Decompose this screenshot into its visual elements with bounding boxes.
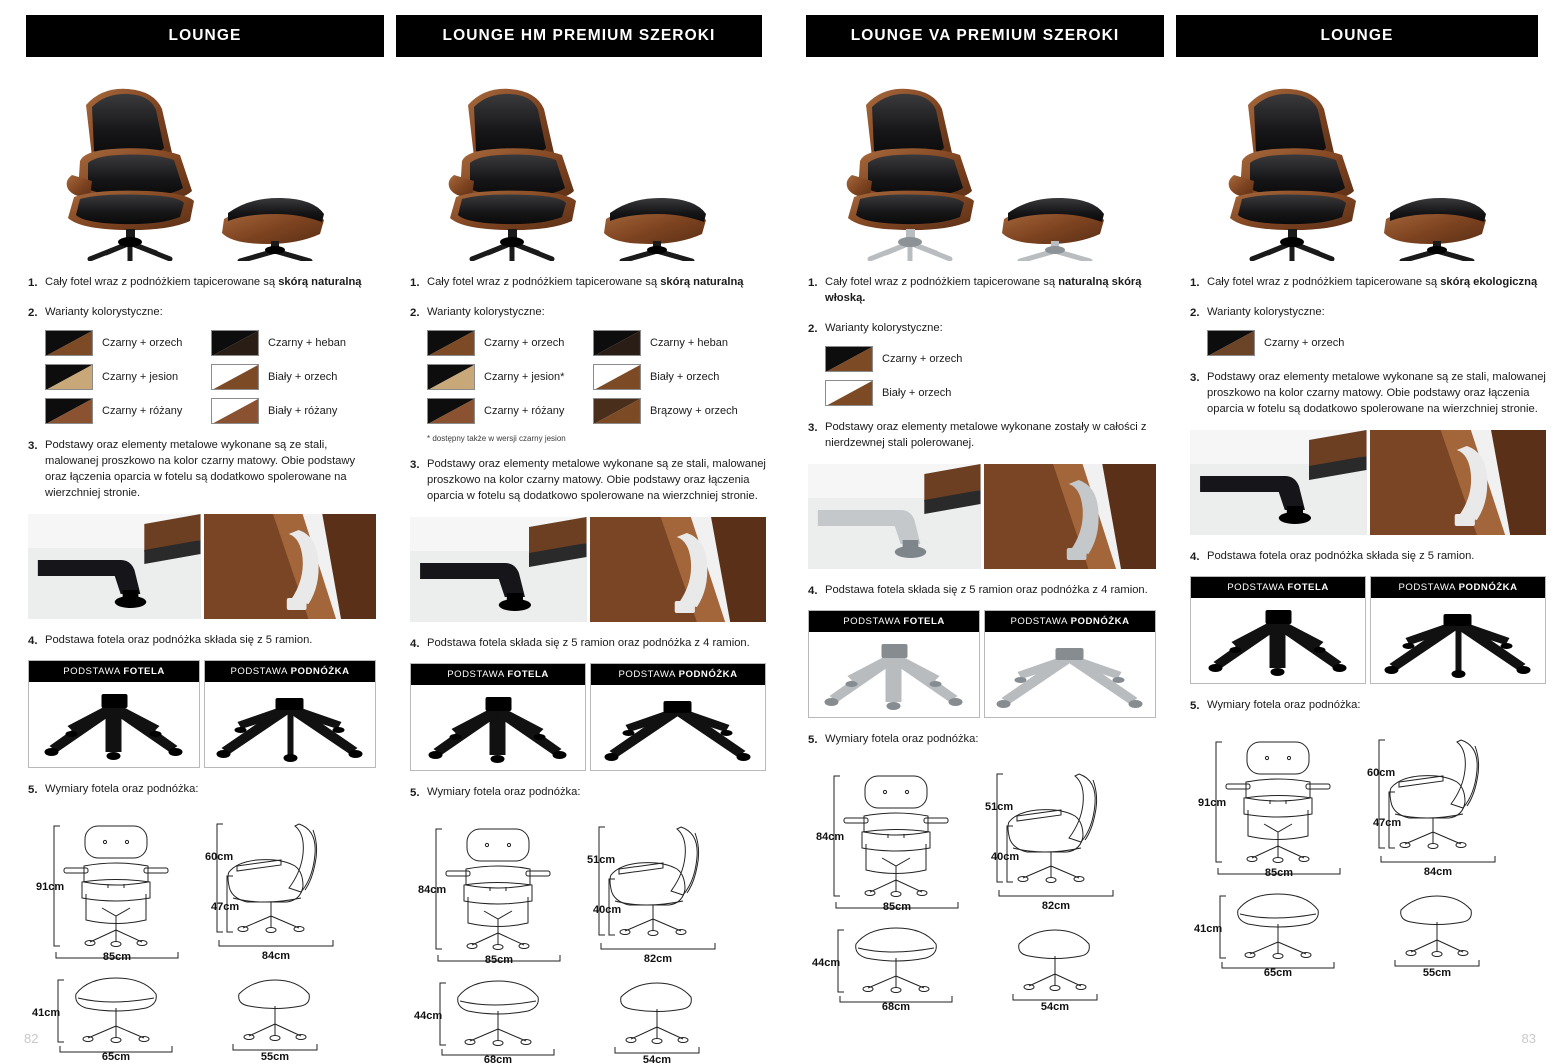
color-variant[interactable]: Czarny + jesion	[45, 364, 211, 390]
color-variant[interactable]: Biały + różany	[211, 398, 371, 424]
color-variants: Czarny + orzech Czarny + jesion* Czarny …	[427, 330, 766, 424]
spec-item-number: 5.	[808, 732, 825, 748]
chair-side-height-label: 60cm	[205, 851, 233, 863]
color-swatch-chip	[427, 330, 475, 356]
color-swatch-chip	[1207, 330, 1255, 356]
spec-item-1: 1. Cały fotel wraz z podnóżkiem tapicero…	[410, 275, 766, 291]
chair-side-view: 60cm 47cm 84cm	[1365, 726, 1525, 876]
spec-item-number: 3.	[808, 420, 825, 452]
spec-item-2: 2. Warianty kolorystyczne:	[1190, 305, 1546, 321]
spec-item-number: 4.	[410, 636, 427, 652]
ottoman-height-label: 44cm	[414, 1010, 442, 1022]
color-swatch-chip	[427, 398, 475, 424]
chair-front-dimension-svg: 84cm 85cm	[410, 813, 585, 963]
color-variant[interactable]: Czarny + heban	[211, 330, 371, 356]
chair-front-dimension-svg: 91cm 85cm	[1190, 726, 1365, 876]
product-hero-image	[28, 71, 376, 261]
spec-item-5: 5. Wymiary fotela oraz podnóżka:	[28, 782, 376, 798]
color-swatch-chip	[825, 380, 873, 406]
spec-item-number: 4.	[808, 583, 825, 599]
spec-item-number: 1.	[1190, 275, 1207, 291]
chair-seat-height-label: 47cm	[211, 901, 239, 913]
product-column-lounge-hm: LOUNGE HM PREMIUM SZEROKI	[390, 0, 780, 1064]
ottoman-base-header: PODSTAWA PODNÓŻKA	[985, 611, 1155, 632]
chair-base-image	[411, 685, 585, 770]
spec-item-number: 5.	[410, 785, 427, 801]
ottoman-base-svg	[591, 685, 765, 770]
detail-photo-right	[1370, 430, 1547, 535]
detail-photo-strip	[1190, 430, 1546, 535]
color-variant[interactable]: Czarny + orzech	[427, 330, 593, 356]
spec-item-number: 4.	[1190, 549, 1207, 565]
ottoman-front-view: 44cm 68cm	[808, 910, 983, 1010]
spec-item-number: 1.	[808, 275, 825, 307]
spec-item-text: Wymiary fotela oraz podnóżka:	[45, 782, 376, 798]
spec-item-number: 5.	[28, 782, 45, 798]
color-variant-label: Brązowy + orzech	[650, 405, 738, 417]
spec-item-number: 2.	[28, 305, 45, 321]
base-comparison: PODSTAWA FOTELA PODSTAWA PODNÓŻKA	[410, 663, 766, 771]
spec-item-4: 4. Podstawa fotela składa się z 5 ramion…	[410, 636, 766, 652]
dimension-drawings: 91cm 85cm 60cm 47cm 84cm	[1190, 726, 1546, 976]
product-hero-image	[410, 71, 766, 261]
detail-photo-right	[590, 517, 767, 622]
color-variant-label: Czarny + różany	[484, 405, 564, 417]
dimension-drawings: 84cm 85cm 51cm 40cm 82cm	[808, 760, 1156, 1010]
product-hero-image	[808, 71, 1156, 261]
chair-front-view: 91cm 85cm	[1190, 726, 1365, 876]
ottoman-side-view: 54cm	[585, 963, 745, 1063]
color-variant[interactable]: Biały + orzech	[825, 380, 991, 406]
spec-item-number: 3.	[410, 457, 427, 505]
ottoman-width-label: 68cm	[882, 1001, 910, 1010]
ottoman-base-header: PODSTAWA PODNÓŻKA	[205, 661, 375, 682]
color-swatch-chip	[593, 398, 641, 424]
ottoman-dimension-row: 44cm 68cm 54cm	[808, 910, 1156, 1010]
ottoman-side-width-label: 55cm	[261, 1051, 289, 1060]
detail-photo-left	[1190, 430, 1367, 535]
color-variants: Czarny + orzech	[1207, 330, 1546, 356]
ottoman-front-view: 41cm 65cm	[1190, 876, 1365, 976]
spec-item-number: 4.	[28, 633, 45, 649]
chair-base-image	[809, 632, 979, 717]
spec-item-text: Podstawa fotela składa się z 5 ramion or…	[825, 583, 1156, 599]
ottoman-dimension-row: 41cm 65cm 55cm	[28, 960, 376, 1060]
spec-item-3: 3. Podstawy oraz elementy metalowe wykon…	[808, 420, 1156, 452]
ottoman-front-view: 44cm 68cm	[410, 963, 585, 1063]
detail-photo-svg	[1370, 430, 1547, 535]
chair-dimension-row: 91cm 85cm 60cm 47cm 84cm	[1190, 726, 1546, 876]
chair-base-header: PODSTAWA FOTELA	[29, 661, 199, 682]
color-variant-label: Czarny + orzech	[1264, 337, 1344, 349]
color-variant[interactable]: Czarny + jesion*	[427, 364, 593, 390]
spec-item-text: Cały fotel wraz z podnóżkiem tapicerowan…	[427, 275, 766, 291]
color-swatch-chip	[211, 330, 259, 356]
color-variant[interactable]: Biały + orzech	[593, 364, 753, 390]
spec-item-2: 2. Warianty kolorystyczne:	[808, 321, 1156, 337]
chair-width-label: 85cm	[103, 951, 131, 960]
chair-base-header: PODSTAWA FOTELA	[1191, 577, 1365, 598]
chair-dimension-row: 84cm 85cm 51cm 40cm 82cm	[808, 760, 1156, 910]
chair-seat-height-label: 40cm	[991, 851, 1019, 863]
spec-item-number: 3.	[1190, 370, 1207, 418]
ottoman-front-dimension-svg: 44cm 68cm	[808, 910, 983, 1010]
detail-photo-svg	[808, 464, 981, 569]
spec-item-text: Podstawa fotela oraz podnóżka składa się…	[45, 633, 376, 649]
color-swatch-chip	[211, 364, 259, 390]
base-comparison: PODSTAWA FOTELA PODSTAWA PODNÓŻKA	[28, 660, 376, 768]
ottoman-height-label: 41cm	[1194, 923, 1222, 935]
ottoman-base-image	[1371, 598, 1545, 683]
spec-item-1: 1. Cały fotel wraz z podnóżkiem tapicero…	[1190, 275, 1546, 291]
chair-side-height-label: 51cm	[985, 801, 1013, 813]
ottoman-side-dimension-svg: 54cm	[983, 910, 1143, 1010]
detail-photo-left	[808, 464, 981, 569]
product-photo-svg	[1190, 71, 1520, 261]
color-variant-label: Czarny + orzech	[484, 337, 564, 349]
spec-item-text: Warianty kolorystyczne:	[45, 305, 376, 321]
chair-base-header: PODSTAWA FOTELA	[411, 664, 585, 685]
color-swatch-chip	[825, 346, 873, 372]
ottoman-side-view: 54cm	[983, 910, 1143, 1010]
chair-base-svg	[809, 632, 979, 717]
product-title-banner: LOUNGE	[1176, 15, 1538, 57]
chair-front-dimension-svg: 91cm 85cm	[28, 810, 203, 960]
spec-item-4: 4. Podstawa fotela oraz podnóżka składa …	[28, 633, 376, 649]
color-variants: Czarny + orzech Czarny + jesion Czarny +…	[45, 330, 376, 424]
chair-height-label: 91cm	[1198, 797, 1226, 809]
spec-item-5: 5. Wymiary fotela oraz podnóżka:	[1190, 698, 1546, 714]
chair-seat-height-label: 40cm	[593, 904, 621, 916]
ottoman-side-view: 55cm	[203, 960, 363, 1060]
spec-item-text: Podstawa fotela oraz podnóżka składa się…	[1207, 549, 1546, 565]
chair-front-view: 91cm 85cm	[28, 810, 203, 960]
color-variant[interactable]: Czarny + różany	[427, 398, 593, 424]
chair-base-box: PODSTAWA FOTELA	[410, 663, 586, 771]
color-variant[interactable]: Czarny + orzech	[45, 330, 211, 356]
detail-photo-strip	[410, 517, 766, 622]
ottoman-base-box: PODSTAWA PODNÓŻKA	[590, 663, 766, 771]
ottoman-base-box: PODSTAWA PODNÓŻKA	[984, 610, 1156, 718]
page-number-left: 82	[24, 1031, 38, 1046]
spec-item-number: 1.	[28, 275, 45, 291]
product-hero-image	[1190, 71, 1546, 261]
color-variant[interactable]: Biały + orzech	[211, 364, 371, 390]
color-variant[interactable]: Brązowy + orzech	[593, 398, 753, 424]
detail-photo-right	[984, 464, 1157, 569]
ottoman-side-dimension-svg: 55cm	[1365, 876, 1525, 976]
detail-photo-svg	[984, 464, 1157, 569]
detail-photo-svg	[590, 517, 767, 622]
detail-photo-strip	[808, 464, 1156, 569]
chair-side-width-label: 84cm	[262, 950, 290, 960]
spec-item-number: 1.	[410, 275, 427, 291]
ottoman-side-dimension-svg: 55cm	[203, 960, 363, 1060]
ottoman-front-view: 41cm 65cm	[28, 960, 203, 1060]
chair-base-image	[1191, 598, 1365, 683]
spec-item-4: 4. Podstawa fotela oraz podnóżka składa …	[1190, 549, 1546, 565]
chair-side-view: 60cm 47cm 84cm	[203, 810, 363, 960]
chair-side-dimension-svg: 51cm 40cm 82cm	[983, 760, 1143, 910]
left-page: LOUNGE	[0, 0, 780, 1064]
color-swatch-chip	[211, 398, 259, 424]
chair-base-box: PODSTAWA FOTELA	[28, 660, 200, 768]
ottoman-base-box: PODSTAWA PODNÓŻKA	[1370, 576, 1546, 684]
chair-side-view: 51cm 40cm 82cm	[585, 813, 745, 963]
detail-photo-svg	[204, 514, 377, 619]
color-variant-label: Czarny + orzech	[102, 337, 182, 349]
ottoman-width-label: 65cm	[102, 1051, 130, 1060]
chair-side-height-label: 51cm	[587, 854, 615, 866]
spec-item-text: Wymiary fotela oraz podnóżka:	[427, 785, 766, 801]
chair-front-dimension-svg: 84cm 85cm	[808, 760, 983, 910]
ottoman-base-svg	[985, 632, 1155, 717]
ottoman-base-image	[985, 632, 1155, 717]
color-variants: Czarny + orzech Biały + orzech	[825, 346, 1156, 406]
color-variant[interactable]: Czarny + różany	[45, 398, 211, 424]
chair-dimension-row: 91cm 85cm 60cm 47cm 84cm	[28, 810, 376, 960]
product-photo-svg	[410, 71, 740, 261]
ottoman-front-dimension-svg: 41cm 65cm	[28, 960, 203, 1060]
ottoman-base-svg	[1371, 598, 1545, 683]
chair-base-image	[29, 682, 199, 767]
ottoman-base-header: PODSTAWA PODNÓŻKA	[591, 664, 765, 685]
color-variant-label: Biały + orzech	[882, 387, 951, 399]
color-variant[interactable]: Czarny + heban	[593, 330, 753, 356]
ottoman-width-label: 68cm	[484, 1054, 512, 1063]
spec-item-text: Cały fotel wraz z podnóżkiem tapicerowan…	[825, 275, 1156, 307]
chair-side-width-label: 82cm	[644, 953, 672, 963]
ottoman-side-width-label: 54cm	[1041, 1001, 1069, 1010]
spec-item-text: Podstawy oraz elementy metalowe wykonane…	[427, 457, 766, 505]
spec-item-text: Warianty kolorystyczne:	[1207, 305, 1546, 321]
right-page: LOUNGE VA PREMIUM SZEROKI	[780, 0, 1560, 1064]
color-variant-label: Biały + różany	[268, 405, 337, 417]
chair-base-svg	[1191, 598, 1365, 683]
spec-item-number: 2.	[1190, 305, 1207, 321]
chair-dimension-row: 84cm 85cm 51cm 40cm 82cm	[410, 813, 766, 963]
product-photo-svg	[28, 71, 358, 261]
spec-item-1: 1. Cały fotel wraz z podnóżkiem tapicero…	[28, 275, 376, 291]
spec-item-text: Wymiary fotela oraz podnóżka:	[825, 732, 1156, 748]
chair-side-dimension-svg: 60cm 47cm 84cm	[203, 810, 363, 960]
color-variant-label: Biały + orzech	[650, 371, 719, 383]
spec-item-5: 5. Wymiary fotela oraz podnóżka:	[410, 785, 766, 801]
ottoman-side-dimension-svg: 54cm	[585, 963, 745, 1063]
product-photo-svg	[808, 71, 1138, 261]
base-comparison: PODSTAWA FOTELA PODSTAWA PODNÓŻKA	[1190, 576, 1546, 684]
color-variant[interactable]: Czarny + orzech	[825, 346, 991, 372]
spec-item-3: 3. Podstawy oraz elementy metalowe wykon…	[1190, 370, 1546, 418]
detail-photo-left	[28, 514, 201, 619]
chair-side-height-label: 60cm	[1367, 767, 1395, 779]
ottoman-width-label: 65cm	[1264, 967, 1292, 976]
spec-item-number: 3.	[28, 438, 45, 502]
detail-photo-svg	[410, 517, 587, 622]
spec-item-text: Cały fotel wraz z podnóżkiem tapicerowan…	[1207, 275, 1546, 291]
ottoman-base-image	[591, 685, 765, 770]
color-variant-label: Czarny + orzech	[882, 353, 962, 365]
chair-side-dimension-svg: 60cm 47cm 84cm	[1365, 726, 1525, 876]
spec-item-3: 3. Podstawy oraz elementy metalowe wykon…	[28, 438, 376, 502]
spec-item-text: Cały fotel wraz z podnóżkiem tapicerowan…	[45, 275, 376, 291]
color-variant[interactable]: Czarny + orzech	[1207, 330, 1373, 356]
ottoman-base-svg	[205, 682, 375, 767]
chair-height-label: 91cm	[36, 881, 64, 893]
color-swatch-chip	[45, 398, 93, 424]
chair-side-dimension-svg: 51cm 40cm 82cm	[585, 813, 745, 963]
chair-height-label: 84cm	[418, 884, 446, 896]
page-gutter	[779, 0, 781, 1064]
ottoman-height-label: 41cm	[32, 1007, 60, 1019]
product-title-banner: LOUNGE	[26, 15, 384, 57]
spec-item-text: Warianty kolorystyczne:	[427, 305, 766, 321]
ottoman-height-label: 44cm	[812, 957, 840, 969]
color-variant-label: Biały + orzech	[268, 371, 337, 383]
color-swatch-chip	[45, 364, 93, 390]
chair-base-svg	[29, 682, 199, 767]
ottoman-base-image	[205, 682, 375, 767]
product-column-lounge-right: LOUNGE	[1170, 0, 1560, 1064]
color-variant-label: Czarny + heban	[268, 337, 346, 349]
dimension-drawings: 91cm 85cm 60cm 47cm 84cm	[28, 810, 376, 1060]
color-variant-label: Czarny + heban	[650, 337, 728, 349]
color-swatch-chip	[427, 364, 475, 390]
ottoman-side-width-label: 54cm	[643, 1054, 671, 1063]
detail-photo-strip	[28, 514, 376, 619]
detail-photo-right	[204, 514, 377, 619]
color-variants-footnote: * dostępny także w wersji czarny jesion	[427, 434, 766, 443]
chair-base-header: PODSTAWA FOTELA	[809, 611, 979, 632]
base-comparison: PODSTAWA FOTELA PODSTAWA PODNÓŻKA	[808, 610, 1156, 718]
product-title-banner: LOUNGE HM PREMIUM SZEROKI	[396, 15, 762, 57]
color-variant-label: Czarny + różany	[102, 405, 182, 417]
spec-item-text: Podstawy oraz elementy metalowe wykonane…	[825, 420, 1156, 452]
ottoman-dimension-row: 44cm 68cm 54cm	[410, 963, 766, 1063]
spec-item-text: Warianty kolorystyczne:	[825, 321, 1156, 337]
page-number-right: 83	[1522, 1031, 1536, 1046]
spec-item-text: Podstawy oraz elementy metalowe wykonane…	[45, 438, 376, 502]
chair-front-view: 84cm 85cm	[808, 760, 983, 910]
color-swatch-chip	[593, 330, 641, 356]
spec-item-2: 2. Warianty kolorystyczne:	[28, 305, 376, 321]
spec-item-5: 5. Wymiary fotela oraz podnóżka:	[808, 732, 1156, 748]
product-column-lounge-left: LOUNGE	[0, 0, 390, 1064]
color-swatch-chip	[45, 330, 93, 356]
chair-width-label: 85cm	[883, 901, 911, 910]
spec-item-number: 2.	[808, 321, 825, 337]
spec-item-text: Podstawa fotela składa się z 5 ramion or…	[427, 636, 766, 652]
chair-side-view: 51cm 40cm 82cm	[983, 760, 1143, 910]
color-swatch-chip	[593, 364, 641, 390]
detail-photo-svg	[28, 514, 201, 619]
chair-width-label: 85cm	[1265, 867, 1293, 876]
ottoman-side-width-label: 55cm	[1423, 967, 1451, 976]
chair-width-label: 85cm	[485, 954, 513, 963]
color-variant-label: Czarny + jesion	[102, 371, 178, 383]
ottoman-front-dimension-svg: 44cm 68cm	[410, 963, 585, 1063]
chair-base-box: PODSTAWA FOTELA	[1190, 576, 1366, 684]
ottoman-side-view: 55cm	[1365, 876, 1525, 976]
chair-side-width-label: 84cm	[1424, 866, 1452, 876]
chair-seat-height-label: 47cm	[1373, 817, 1401, 829]
product-title-banner: LOUNGE VA PREMIUM SZEROKI	[806, 15, 1164, 57]
ottoman-dimension-row: 41cm 65cm 55cm	[1190, 876, 1546, 976]
spec-item-text: Wymiary fotela oraz podnóżka:	[1207, 698, 1546, 714]
detail-photo-left	[410, 517, 587, 622]
chair-front-view: 84cm 85cm	[410, 813, 585, 963]
ottoman-front-dimension-svg: 41cm 65cm	[1190, 876, 1365, 976]
detail-photo-svg	[1190, 430, 1367, 535]
catalog-spread: LOUNGE	[0, 0, 1560, 1064]
ottoman-base-box: PODSTAWA PODNÓŻKA	[204, 660, 376, 768]
spec-item-number: 5.	[1190, 698, 1207, 714]
chair-base-svg	[411, 685, 585, 770]
color-variant-label: Czarny + jesion*	[484, 371, 564, 383]
spec-item-2: 2. Warianty kolorystyczne:	[410, 305, 766, 321]
spec-item-1: 1. Cały fotel wraz z podnóżkiem tapicero…	[808, 275, 1156, 307]
spec-item-4: 4. Podstawa fotela składa się z 5 ramion…	[808, 583, 1156, 599]
spec-item-number: 2.	[410, 305, 427, 321]
dimension-drawings: 84cm 85cm 51cm 40cm 82cm	[410, 813, 766, 1063]
chair-side-width-label: 82cm	[1042, 900, 1070, 910]
chair-height-label: 84cm	[816, 831, 844, 843]
product-column-lounge-va: LOUNGE VA PREMIUM SZEROKI	[780, 0, 1170, 1064]
ottoman-base-header: PODSTAWA PODNÓŻKA	[1371, 577, 1545, 598]
chair-base-box: PODSTAWA FOTELA	[808, 610, 980, 718]
spec-item-text: Podstawy oraz elementy metalowe wykonane…	[1207, 370, 1546, 418]
spec-item-3: 3. Podstawy oraz elementy metalowe wykon…	[410, 457, 766, 505]
